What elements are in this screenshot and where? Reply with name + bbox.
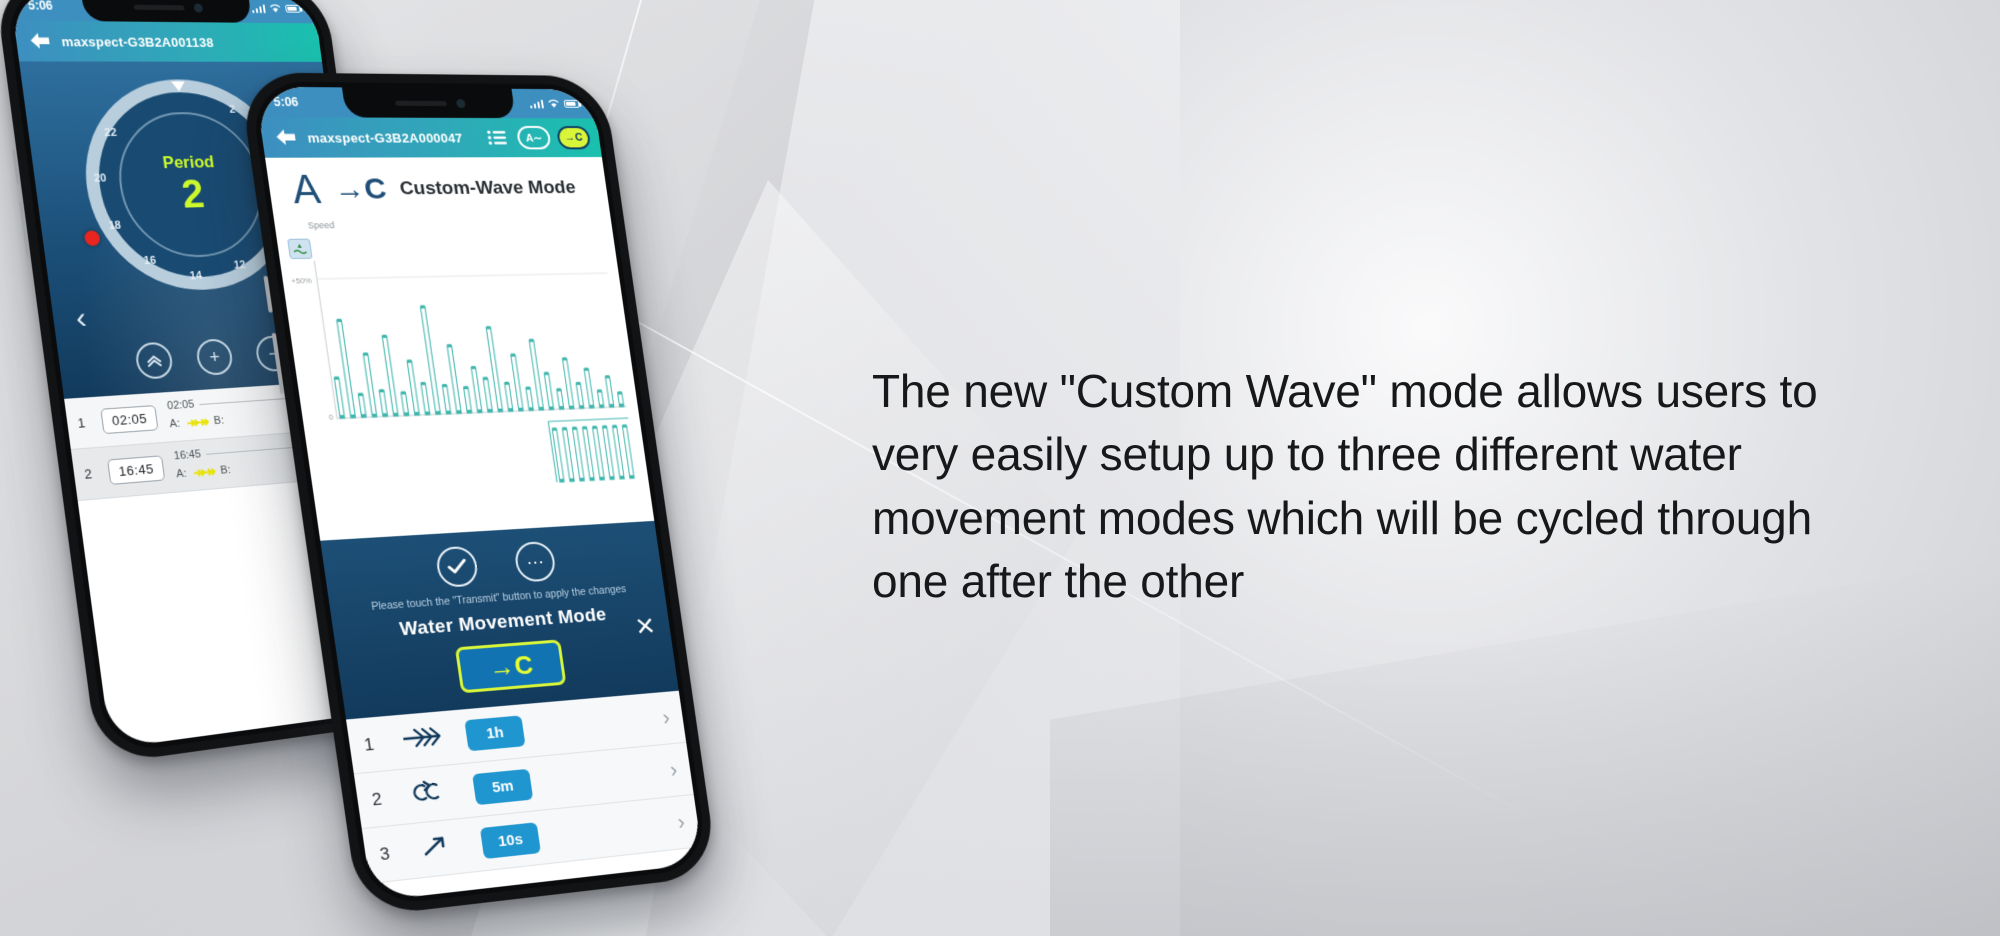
battery-icon	[564, 100, 580, 108]
front-camera-icon	[455, 99, 465, 108]
custom-wave-icon[interactable]: →C	[556, 126, 591, 149]
status-time: 5:06	[273, 95, 300, 109]
list-item-index: 1	[363, 734, 382, 756]
list-icon[interactable]	[483, 125, 512, 151]
dial-tick-12: 12	[233, 260, 246, 272]
status-time: 5:06	[27, 0, 53, 13]
caption-line-1: The new "Custom Wave" mode allows users …	[872, 360, 1972, 423]
phone-back-appbar: maxspect-G3B2A001138	[14, 20, 322, 61]
custom-wave-glyph-icon: →C	[332, 174, 388, 204]
selected-mode-chip[interactable]: →C	[455, 639, 567, 693]
caption-line-4: one after the other	[872, 550, 1972, 613]
speed-chart-container[interactable]: Speed +50%0	[274, 213, 655, 541]
mode-title: Custom-Wave Mode	[399, 177, 578, 200]
timer-channel-a-label: A:	[176, 468, 188, 481]
dial-tick-2: 2	[229, 104, 236, 116]
transmit-footer: ⋯ Please touch the "Transmit" button to …	[320, 521, 679, 720]
caption-line-3: movement modes which will be cycled thro…	[872, 487, 1972, 550]
status-indicators	[251, 3, 301, 13]
device-name-label: maxspect-G3B2A001138	[60, 34, 311, 50]
phone-front-appbar: maxspect-G3B2A000047 A∼ →C	[259, 117, 602, 158]
chevron-right-icon[interactable]: ›	[676, 809, 686, 835]
device-name-label: maxspect-G3B2A000047	[306, 130, 478, 145]
duration-badge[interactable]: 1h	[464, 715, 525, 751]
dial-tick-18: 18	[108, 219, 122, 231]
list-item-index: 3	[379, 843, 398, 865]
channel-letter: A	[290, 170, 323, 211]
wifi-icon	[269, 4, 281, 14]
back-arrow-icon[interactable]	[271, 124, 302, 150]
duration-badge[interactable]: 10s	[480, 822, 541, 859]
earpiece-speaker-icon	[133, 4, 184, 10]
more-options-icon[interactable]: ⋯	[513, 541, 557, 583]
duration-badge[interactable]: 5m	[472, 769, 533, 805]
mode-header: A →C Custom-Wave Mode	[265, 157, 610, 217]
status-indicators	[529, 99, 580, 109]
cycle-loop-icon	[402, 776, 460, 811]
svg-text:+50%: +50%	[290, 276, 312, 286]
battery-icon	[285, 5, 301, 13]
signal-bars-icon	[251, 4, 266, 13]
timer-index: 2	[83, 466, 97, 482]
timer-index: 1	[77, 415, 91, 431]
dial-tick-14: 14	[189, 270, 202, 282]
double-chevron-up-icon[interactable]	[134, 342, 174, 380]
timer-channel-a-label: A:	[169, 418, 181, 431]
dial-pointer-icon	[171, 81, 186, 91]
caption-text: The new "Custom Wave" mode allows users …	[872, 360, 1972, 614]
list-item-index: 2	[371, 788, 390, 810]
period-value: 2	[179, 172, 206, 216]
period-label: Period	[162, 152, 216, 173]
signal-bars-icon	[529, 99, 544, 108]
dial-tick-20: 20	[93, 172, 107, 184]
mode-sequence-list: 1 1h › 2 5m › 3	[346, 691, 701, 884]
fast-forward-arrows-icon: ↠↠	[192, 462, 215, 482]
wave-preset-icon[interactable]	[287, 239, 313, 260]
dial-tick-22: 22	[104, 127, 118, 139]
chevron-right-icon[interactable]: ›	[668, 757, 678, 783]
back-arrow-icon[interactable]	[25, 28, 55, 55]
speed-chart[interactable]: +50%0	[280, 227, 648, 536]
auto-mode-icon[interactable]: A∼	[516, 126, 552, 149]
fast-forward-arrows-icon	[395, 723, 453, 756]
svg-text:0: 0	[328, 412, 334, 421]
timer-channel-b-label: B:	[220, 464, 232, 477]
earpiece-speaker-icon	[394, 100, 446, 105]
phone-front-notch	[342, 87, 516, 118]
timer-meta-time: 16:45	[173, 448, 201, 462]
fast-forward-arrows-icon: ↠↠	[186, 413, 209, 432]
wifi-icon	[547, 99, 560, 109]
slow-wave-icon	[410, 831, 468, 865]
plus-icon[interactable]: +	[195, 338, 234, 376]
timer-meta-time: 02:05	[166, 398, 194, 412]
timer-channel-b-label: B:	[213, 414, 225, 427]
dial-tick-16: 16	[143, 255, 157, 267]
phone-back-notch	[81, 0, 252, 23]
caption-line-2: very easily setup up to three different …	[872, 423, 1972, 486]
timer-time-field[interactable]: 02:05	[100, 405, 158, 434]
transmit-check-icon[interactable]	[434, 546, 479, 588]
chevron-right-icon[interactable]: ›	[661, 705, 671, 731]
timer-time-field[interactable]: 16:45	[107, 455, 165, 485]
front-camera-icon	[193, 3, 203, 12]
